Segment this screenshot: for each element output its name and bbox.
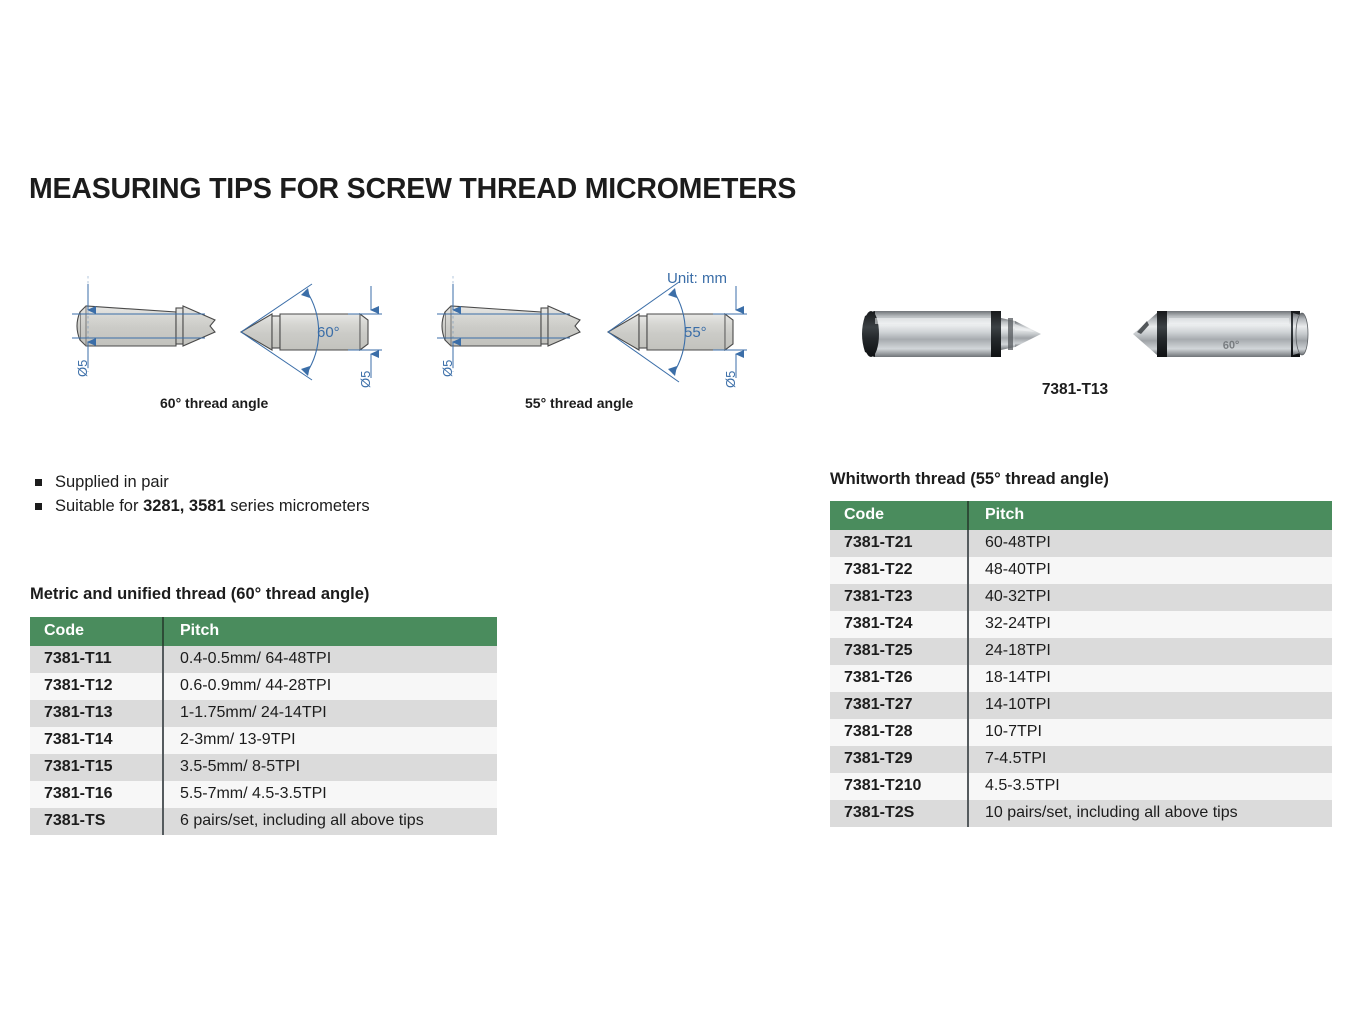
- unit-note: Unit: mm: [667, 270, 727, 287]
- table-row: 7381-T25 24-18TPI: [830, 638, 1332, 665]
- dimension-label-left-55: Ø5: [440, 360, 455, 377]
- table-row: 7381-T12 0.6-0.9mm/ 44-28TPI: [30, 673, 497, 700]
- angle-label-55: 55°: [684, 324, 707, 341]
- cell-pitch: 4.5-3.5TPI: [968, 773, 1332, 800]
- diagram-55-degree: Ø5 55° Ø5: [437, 270, 747, 411]
- feature-text: Supplied in pair: [55, 473, 169, 491]
- cell-code: 7381-T25: [830, 638, 968, 665]
- feature-text-bold: 3281, 3581: [143, 497, 226, 515]
- table-row: 7381-TS 6 pairs/set, including all above…: [30, 808, 497, 835]
- dimension-label-right-60: Ø5: [358, 371, 373, 388]
- cell-pitch: 1-1.75mm/ 24-14TPI: [163, 700, 497, 727]
- table-row: 7381-T2S 10 pairs/set, including all abo…: [830, 800, 1332, 827]
- cell-code: 7381-T2S: [830, 800, 968, 827]
- cell-pitch: 40-32TPI: [968, 584, 1332, 611]
- table-row: 7381-T21 60-48TPI: [830, 530, 1332, 557]
- engraving-label: 60°: [1223, 339, 1240, 352]
- cell-code: 7381-T23: [830, 584, 968, 611]
- table-row: 7381-T13 1-1.75mm/ 24-14TPI: [30, 700, 497, 727]
- table-row: 7381-T14 2-3mm/ 13-9TPI: [30, 727, 497, 754]
- cell-pitch: 0.4-0.5mm/ 64-48TPI: [163, 646, 497, 673]
- product-photo-caption: 7381-T13: [845, 381, 1305, 399]
- tip-side-view-60: [77, 306, 215, 346]
- cell-code: 7381-T22: [830, 557, 968, 584]
- table-row: 7381-T28 10-7TPI: [830, 719, 1332, 746]
- feature-text: Suitable for: [55, 497, 143, 515]
- diagram-caption-55: 55° thread angle: [525, 395, 634, 411]
- cell-pitch: 2-3mm/ 13-9TPI: [163, 727, 497, 754]
- page-title: MEASURING TIPS FOR SCREW THREAD MICROMET…: [29, 173, 796, 206]
- diagram-60-degree: Ø5 60°: [72, 276, 382, 411]
- table-row: 7381-T23 40-32TPI: [830, 584, 1332, 611]
- table-row: 7381-T24 32-24TPI: [830, 611, 1332, 638]
- angle-label-60: 60°: [317, 324, 340, 341]
- table-row: 7381-T26 18-14TPI: [830, 665, 1332, 692]
- cell-code: 7381-T12: [30, 673, 163, 700]
- cell-code: 7381-T21: [830, 530, 968, 557]
- cell-code: 7381-T26: [830, 665, 968, 692]
- cell-code: 7381-T24: [830, 611, 968, 638]
- cell-pitch: 10 pairs/set, including all above tips: [968, 800, 1332, 827]
- list-item: Supplied in pair: [33, 470, 370, 494]
- product-photo-right: 60°: [1133, 311, 1308, 357]
- tip-side-view-55: [442, 306, 580, 346]
- diagram-caption-60: 60° thread angle: [160, 395, 269, 411]
- table-row: 7381-T210 4.5-3.5TPI: [830, 773, 1332, 800]
- cell-code: 7381-T210: [830, 773, 968, 800]
- cell-code: 7381-T15: [30, 754, 163, 781]
- table-title-whitworth: Whitworth thread (55° thread angle): [830, 470, 1109, 489]
- table-title-metric: Metric and unified thread (60° thread an…: [30, 585, 369, 604]
- cell-pitch: 7-4.5TPI: [968, 746, 1332, 773]
- cell-code: 7381-TS: [30, 808, 163, 835]
- list-item: Suitable for 3281, 3581 series micromete…: [33, 494, 370, 518]
- table-metric-unified-thread: Code Pitch 7381-T11 0.4-0.5mm/ 64-48TPI …: [30, 617, 497, 835]
- cell-pitch: 24-18TPI: [968, 638, 1332, 665]
- feature-list: Supplied in pair Suitable for 3281, 3581…: [33, 470, 370, 518]
- column-header-pitch: Pitch: [163, 617, 497, 646]
- cell-code: 7381-T28: [830, 719, 968, 746]
- cell-code: 7381-T14: [30, 727, 163, 754]
- table-header-row: Code Pitch: [30, 617, 497, 646]
- cell-pitch: 60-48TPI: [968, 530, 1332, 557]
- table-row: 7381-T11 0.4-0.5mm/ 64-48TPI: [30, 646, 497, 673]
- table-row: 7381-T22 48-40TPI: [830, 557, 1332, 584]
- column-header-pitch: Pitch: [968, 501, 1332, 530]
- technical-diagrams: Ø5 60°: [60, 262, 760, 422]
- cell-pitch: 32-24TPI: [968, 611, 1332, 638]
- product-photo-left: [862, 311, 1041, 357]
- column-header-code: Code: [830, 501, 968, 530]
- cell-pitch: 10-7TPI: [968, 719, 1332, 746]
- cell-pitch: 18-14TPI: [968, 665, 1332, 692]
- cell-pitch: 48-40TPI: [968, 557, 1332, 584]
- cell-pitch: 5.5-7mm/ 4.5-3.5TPI: [163, 781, 497, 808]
- table-row: 7381-T27 14-10TPI: [830, 692, 1332, 719]
- cell-pitch: 0.6-0.9mm/ 44-28TPI: [163, 673, 497, 700]
- column-header-code: Code: [30, 617, 163, 646]
- cell-code: 7381-T13: [30, 700, 163, 727]
- dimension-label-right-55: Ø5: [723, 371, 738, 388]
- feature-text-tail: series micrometers: [226, 497, 370, 515]
- cell-code: 7381-T29: [830, 746, 968, 773]
- cell-code: 7381-T27: [830, 692, 968, 719]
- cell-code: 7381-T11: [30, 646, 163, 673]
- dimension-label-left-60: Ø5: [75, 360, 90, 377]
- table-row: 7381-T16 5.5-7mm/ 4.5-3.5TPI: [30, 781, 497, 808]
- table-row: 7381-T15 3.5-5mm/ 8-5TPI: [30, 754, 497, 781]
- cell-pitch: 6 pairs/set, including all above tips: [163, 808, 497, 835]
- cell-pitch: 3.5-5mm/ 8-5TPI: [163, 754, 497, 781]
- table-whitworth-thread: Code Pitch 7381-T21 60-48TPI 7381-T22 48…: [830, 501, 1332, 827]
- cell-code: 7381-T16: [30, 781, 163, 808]
- table-header-row: Code Pitch: [830, 501, 1332, 530]
- table-row: 7381-T29 7-4.5TPI: [830, 746, 1332, 773]
- cell-pitch: 14-10TPI: [968, 692, 1332, 719]
